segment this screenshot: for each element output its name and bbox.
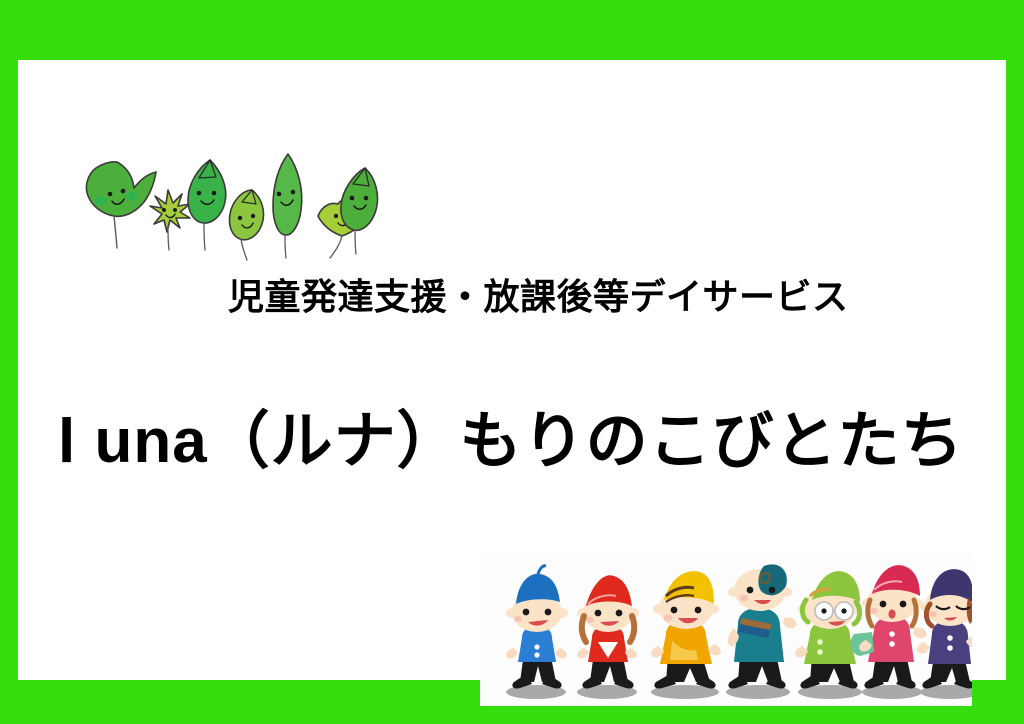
dwarf-red	[577, 575, 639, 688]
leaf-narrow-long-icon	[273, 154, 302, 258]
leaf-oval-light-icon	[229, 190, 263, 260]
dwarf-shadows	[506, 685, 972, 699]
leaf-pointed-right-icon	[341, 168, 378, 254]
dwarf-teal	[728, 564, 796, 688]
leaf-maple-icon	[86, 162, 156, 248]
dwarf-blue	[506, 566, 568, 689]
dwarf-green	[795, 571, 865, 688]
seven-dwarfs-illustration	[480, 556, 972, 706]
poster-root: 児童発達支援・放課後等デイサービス l una（ルナ）もりのこびとたち	[0, 0, 1024, 724]
service-subtitle: 児童発達支援・放課後等デイサービス	[228, 276, 849, 317]
page-title: l una（ルナ）もりのこびとたち	[58, 408, 1002, 476]
dwarf-pink	[851, 565, 927, 688]
white-panel: 児童発達支援・放課後等デイサービス l una（ルナ）もりのこびとたち	[18, 60, 1006, 680]
dwarf-purple	[917, 569, 972, 688]
leaf-small-maple-icon	[150, 190, 190, 250]
leaf-pointed-dark-icon	[188, 160, 226, 250]
dwarf-yellow	[651, 571, 721, 688]
smiling-leaves-illustration	[70, 152, 380, 264]
